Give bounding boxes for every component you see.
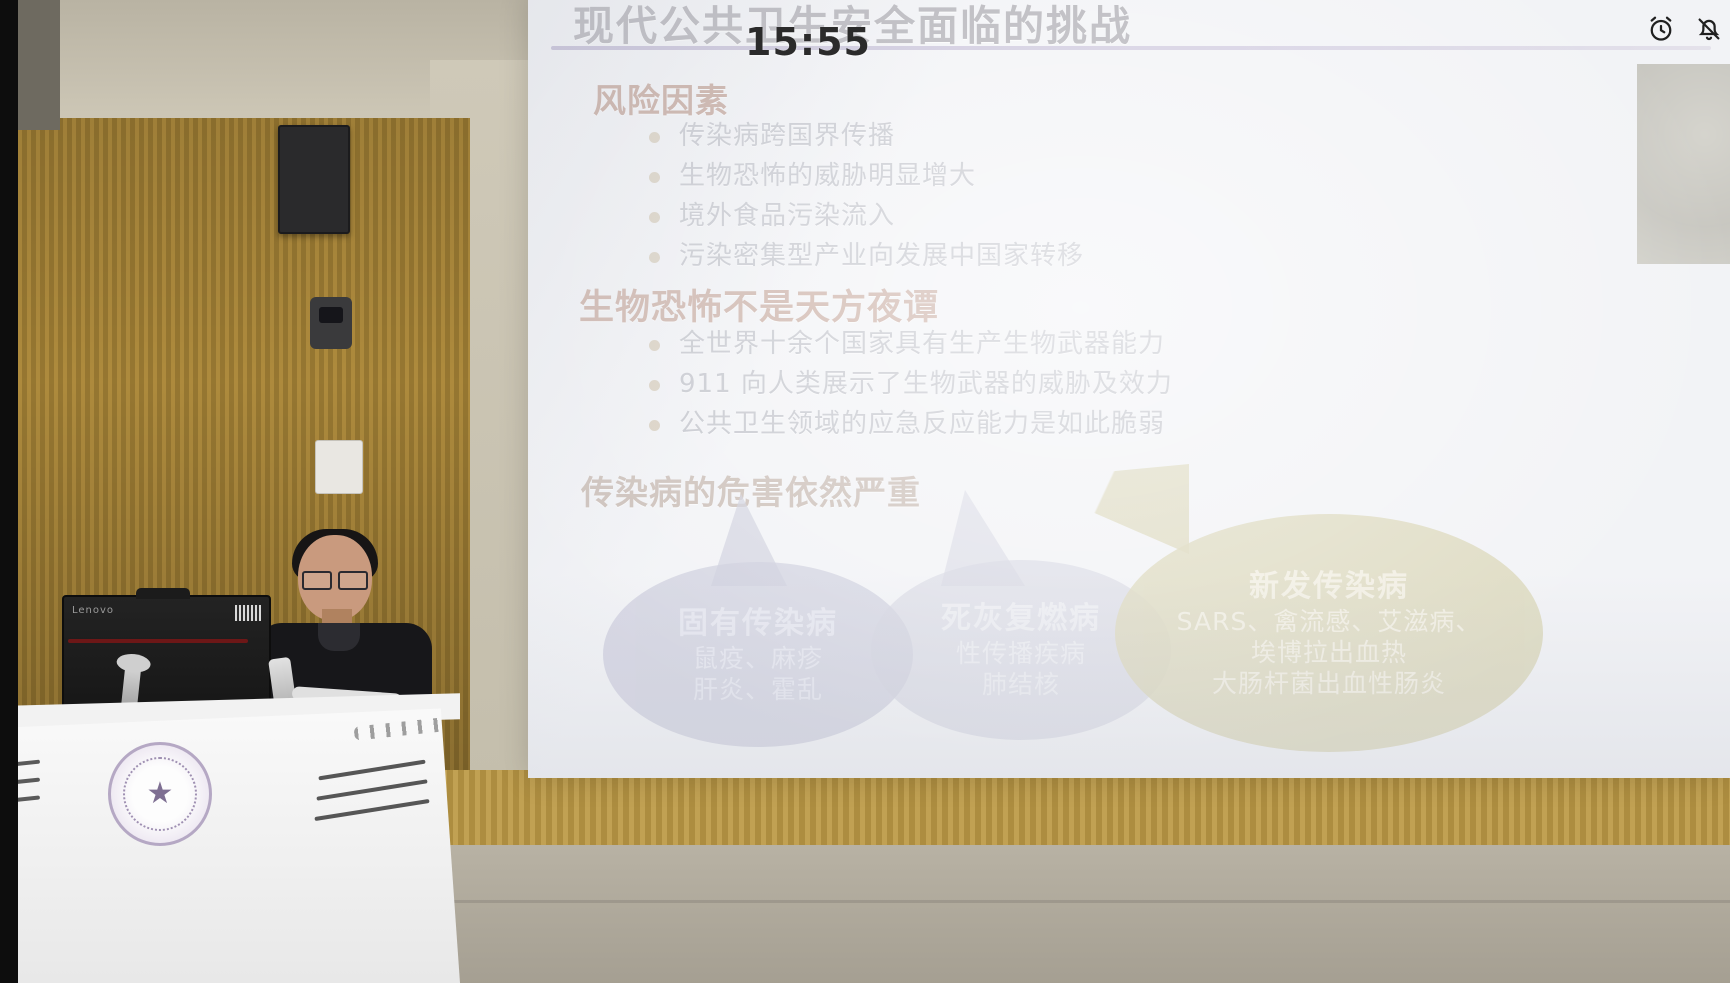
- section-heading-risk-factors: 风险因素: [593, 74, 729, 122]
- title-accent-rule: [551, 46, 1711, 50]
- callout-line: 肝炎、霍乱: [693, 674, 823, 705]
- callout-line: SARS、禽流感、艾滋病、: [1177, 606, 1482, 637]
- callout-tail-emerging: [1019, 464, 1189, 554]
- list-item: 传染病跨国界传播: [637, 116, 1084, 156]
- callout-line: 埃博拉出血热: [1251, 637, 1407, 668]
- glasses-icon: [302, 571, 368, 586]
- slide: 现代公共卫生安全面临的挑战 风险因素 传染病跨国界传播 生物恐怖的威胁明显增大 …: [541, 0, 1730, 778]
- monitor-sticker: [235, 605, 261, 621]
- monitor-accent-stripe: [68, 639, 248, 643]
- list-item: 生物恐怖的威胁明显增大: [637, 156, 1084, 196]
- floor-seam: [420, 900, 1730, 903]
- collage-photo-main: [1637, 64, 1730, 264]
- list-item: 全世界十余个国家具有生产生物武器能力: [637, 324, 1173, 364]
- list-item: 公共卫生领域的应急反应能力是如此脆弱: [637, 404, 1173, 444]
- alarm-clock-icon[interactable]: [1646, 14, 1676, 44]
- section-heading-bioterror: 生物恐怖不是天方夜谭: [579, 279, 939, 330]
- list-item: 污染密集型产业向发展中国家转移: [637, 236, 1084, 276]
- overlay-icon-group[interactable]: [1646, 14, 1724, 44]
- camera-icon: [310, 297, 352, 349]
- ceiling-speaker: [278, 125, 350, 234]
- monitor-handle: [136, 588, 190, 599]
- frame-left-letterbox: [0, 0, 18, 983]
- callout-line: 大肠杆菌出血性肠炎: [1212, 668, 1446, 699]
- bullet-list-risk-factors: 传染病跨国界传播 生物恐怖的威胁明显增大 境外食品污染流入 污染密集型产业向发展…: [637, 116, 1084, 276]
- callout-title: 固有传染病: [678, 605, 838, 643]
- video-frame: 现代公共卫生安全面临的挑战 风险因素 传染病跨国界传播 生物恐怖的威胁明显增大 …: [0, 0, 1730, 983]
- university-emblem: [108, 742, 212, 846]
- clock-overlay: 15:55: [745, 20, 871, 64]
- podium: [0, 700, 460, 983]
- callout-line: 肺结核: [982, 669, 1060, 700]
- callout-title: 新发传染病: [1249, 568, 1409, 606]
- bell-off-icon[interactable]: [1694, 14, 1724, 44]
- callout-line: 鼠疫、麻疹: [693, 643, 823, 674]
- callout-inherent-disease: 固有传染病 鼠疫、麻疹 肝炎、霍乱: [603, 562, 913, 747]
- callout-emerging-disease: 新发传染病 SARS、禽流感、艾滋病、 埃博拉出血热 大肠杆菌出血性肠炎: [1115, 514, 1543, 752]
- list-item: 911 向人类展示了生物武器的威胁及效力: [637, 364, 1173, 404]
- photo-collage: [1611, 64, 1730, 279]
- callout-title: 死灰复燃病: [941, 600, 1101, 638]
- right-wood-wainscot: [420, 770, 1730, 848]
- bullet-list-bioterror: 全世界十余个国家具有生产生物武器能力 911 向人类展示了生物武器的威胁及效力 …: [637, 324, 1173, 444]
- collar: [318, 623, 360, 651]
- monitor-brand-label: Lenovo: [72, 605, 114, 616]
- list-item: 境外食品污染流入: [637, 196, 1084, 236]
- callout-line: 性传播疾病: [956, 638, 1086, 669]
- projection-screen: 现代公共卫生安全面临的挑战 风险因素 传染病跨国界传播 生物恐怖的威胁明显增大 …: [528, 0, 1730, 778]
- wall-panel: [315, 440, 363, 494]
